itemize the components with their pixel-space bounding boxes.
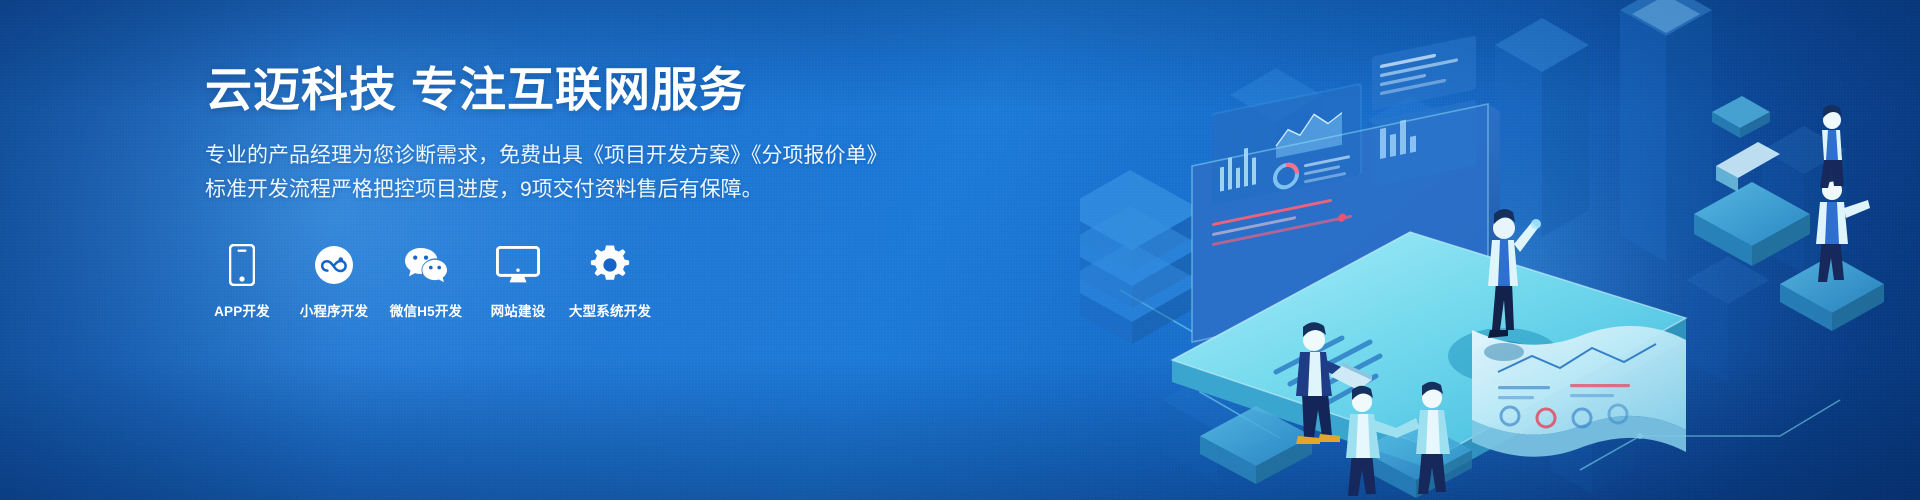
banner-content: 云迈科技 专注互联网服务 专业的产品经理为您诊断需求，免费出具《项目开发方案》《…: [205, 62, 905, 320]
floating-cards: [1712, 96, 1770, 138]
service-label-app: APP开发: [214, 300, 270, 320]
gear-icon: [589, 244, 631, 286]
smartphone-icon: [229, 244, 255, 286]
service-item-large-system[interactable]: 大型系统开发: [573, 244, 647, 320]
mini-program-icon: [314, 244, 354, 286]
service-item-wechat-h5[interactable]: 微信H5开发: [389, 244, 463, 320]
service-label-website: 网站建设: [491, 300, 546, 320]
service-item-website[interactable]: 网站建设: [481, 244, 555, 320]
service-item-app[interactable]: APP开发: [205, 244, 279, 320]
isometric-illustration: [1080, 0, 1920, 500]
banner-subtitle-line-2: 标准开发流程严格把控项目进度，9项交付资料售后有保障。: [205, 173, 905, 207]
monitor-icon: [496, 244, 540, 286]
service-label-large-system: 大型系统开发: [569, 300, 651, 320]
service-label-wechat-h5: 微信H5开发: [390, 300, 462, 320]
page-title: 云迈科技 专注互联网服务: [205, 62, 905, 117]
banner-subtitle-line-1: 专业的产品经理为您诊断需求，免费出具《项目开发方案》《分项报价单》: [205, 139, 905, 173]
service-item-mini-program[interactable]: 小程序开发: [297, 244, 371, 320]
service-list: APP开发 小程序开发: [205, 244, 905, 320]
server-stack: [1080, 170, 1202, 344]
wechat-icon: [403, 244, 449, 286]
service-label-mini-program: 小程序开发: [300, 300, 369, 320]
hero-banner: 云迈科技 专注互联网服务 专业的产品经理为您诊断需求，免费出具《项目开发方案》《…: [0, 0, 1920, 500]
